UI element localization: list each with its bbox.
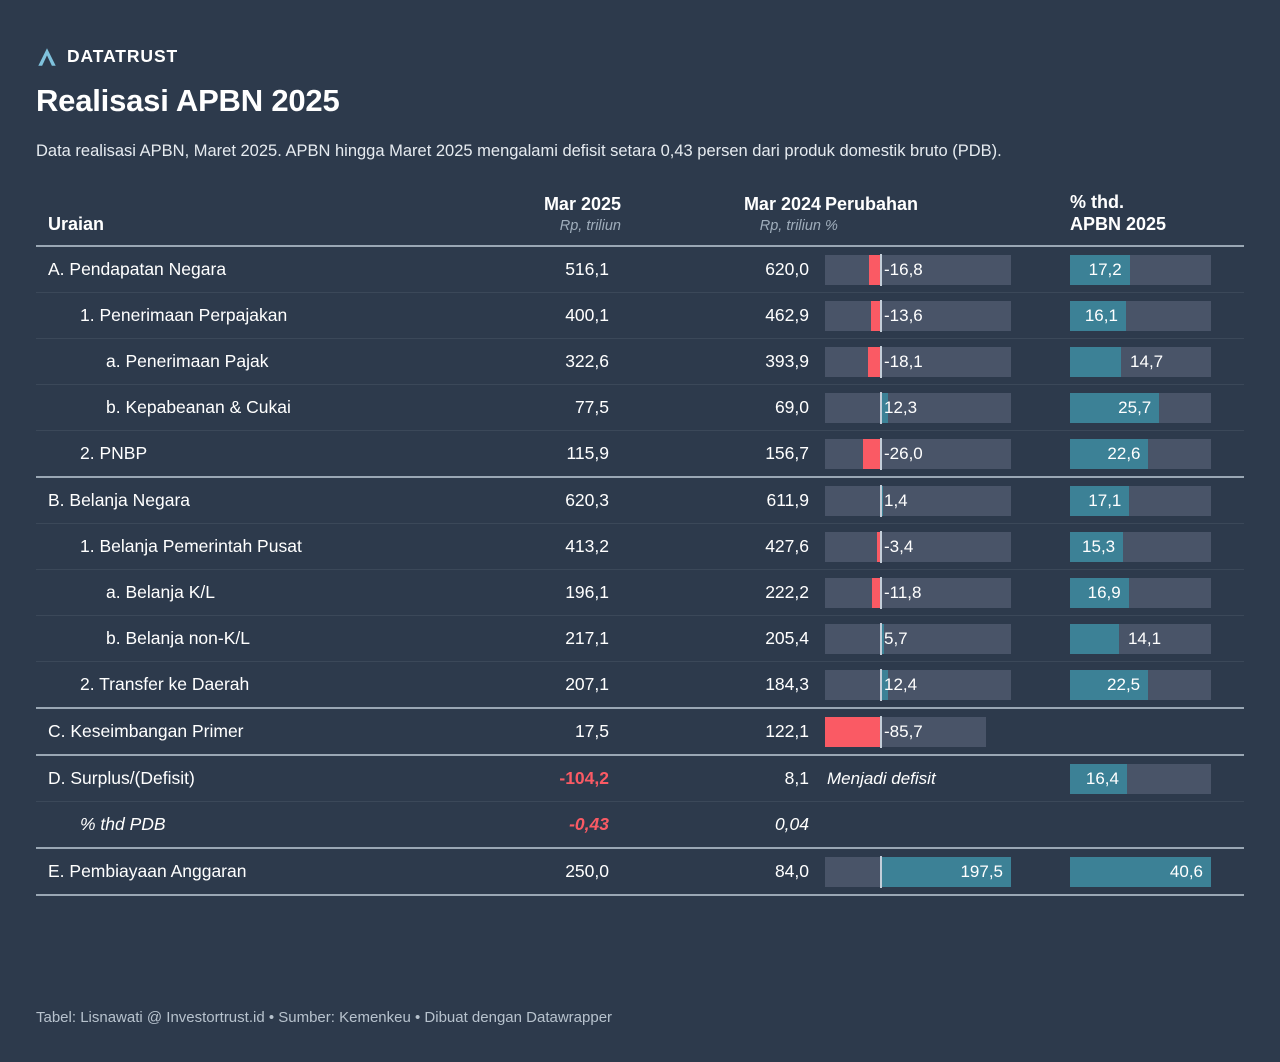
perubahan-zero-line — [880, 623, 882, 655]
cell-pct-apbn: 22,6 — [1066, 431, 1244, 478]
perubahan-note: Menjadi defisit — [825, 764, 1062, 794]
perubahan-value-label: -13,6 — [884, 301, 923, 331]
cell-perubahan: -3,4 — [821, 524, 1066, 570]
perubahan-bar-fill — [872, 578, 880, 608]
cell-mar2024: 0,04 — [621, 802, 821, 849]
row-label: 2. PNBP — [36, 443, 416, 464]
cell-mar2025: 17,5 — [416, 708, 621, 755]
row-label: 2. Transfer ke Daerah — [36, 674, 416, 695]
row-label-cell: a. Belanja K/L — [36, 570, 416, 616]
cell-mar2025: 620,3 — [416, 477, 621, 524]
perubahan-zero-line — [880, 485, 882, 517]
cell-mar2024: 222,2 — [621, 570, 821, 616]
perubahan-zero-line — [880, 856, 882, 888]
cell-mar2025: 207,1 — [416, 662, 621, 709]
cell-mar2025: 413,2 — [416, 524, 621, 570]
perubahan-bar-track — [825, 393, 1011, 423]
row-label-cell: % thd PDB — [36, 802, 416, 849]
cell-pct-apbn: 16,9 — [1066, 570, 1244, 616]
row-label: B. Belanja Negara — [36, 490, 416, 511]
pct-apbn-bar: 17,1 — [1070, 486, 1211, 516]
perubahan-bar-fill — [868, 347, 880, 377]
cell-perubahan — [821, 802, 1066, 849]
table-row: a. Penerimaan Pajak322,6393,9-18,114,7 — [36, 339, 1244, 385]
row-label-cell: a. Penerimaan Pajak — [36, 339, 416, 385]
table-row: B. Belanja Negara620,3611,91,417,1 — [36, 477, 1244, 524]
perubahan-bar-fill — [825, 717, 880, 747]
cell-mar2024: 611,9 — [621, 477, 821, 524]
perubahan-bar-fill — [869, 255, 880, 285]
cell-mar2024: 156,7 — [621, 431, 821, 478]
page-title: Realisasi APBN 2025 — [36, 84, 1244, 119]
row-label-cell: b. Kepabeanan & Cukai — [36, 385, 416, 431]
perubahan-value-label: -16,8 — [884, 255, 923, 285]
cell-mar2025: 77,5 — [416, 385, 621, 431]
cell-perubahan: -18,1 — [821, 339, 1066, 385]
row-label: 1. Penerimaan Perpajakan — [36, 305, 416, 326]
pct-apbn-bar: 16,4 — [1070, 764, 1211, 794]
column-header-pct-apbn-label1: % thd. — [1070, 192, 1244, 214]
cell-perubahan: -13,6 — [821, 293, 1066, 339]
cell-mar2025: -0,43 — [416, 802, 621, 849]
pct-apbn-bar: 15,3 — [1070, 532, 1211, 562]
row-label: C. Keseimbangan Primer — [36, 721, 416, 742]
row-label: a. Penerimaan Pajak — [36, 351, 416, 372]
row-label: D. Surplus/(Defisit) — [36, 768, 416, 789]
row-label: % thd PDB — [36, 814, 416, 835]
pct-apbn-bar: 25,7 — [1070, 393, 1211, 423]
cell-mar2025: 322,6 — [416, 339, 621, 385]
cell-pct-apbn: 17,1 — [1066, 477, 1244, 524]
perubahan-bar-fill — [863, 439, 880, 469]
table-row: 1. Belanja Pemerintah Pusat413,2427,6-3,… — [36, 524, 1244, 570]
pct-apbn-bar: 40,6 — [1070, 857, 1211, 887]
cell-pct-apbn: 40,6 — [1066, 848, 1244, 895]
perubahan-zero-line — [880, 392, 882, 424]
cell-perubahan: -85,7 — [821, 708, 1066, 755]
cell-perubahan: -16,8 — [821, 246, 1066, 293]
perubahan-zero-line — [880, 346, 882, 378]
perubahan-value-label: -11,8 — [884, 578, 922, 608]
perubahan-bar-track — [825, 486, 1011, 516]
perubahan-value-label: -26,0 — [884, 439, 923, 469]
table-head: Uraian Mar 2025 Rp, triliun Mar 2024 Rp,… — [36, 192, 1244, 246]
perubahan-zero-line — [880, 669, 882, 701]
perubahan-bar: 12,3 — [825, 393, 1011, 423]
column-header-perubahan-unit: % — [825, 217, 1066, 236]
pct-apbn-value-label: 16,1 — [1085, 301, 1118, 331]
table-row: E. Pembiayaan Anggaran250,084,0197,540,6 — [36, 848, 1244, 895]
row-label-cell: 2. Transfer ke Daerah — [36, 662, 416, 709]
row-label-cell: 2. PNBP — [36, 431, 416, 478]
column-header-uraian-label: Uraian — [48, 214, 416, 236]
cell-mar2025: -104,2 — [416, 755, 621, 802]
pct-apbn-value-label: 15,3 — [1082, 532, 1115, 562]
column-header-perubahan: Perubahan % — [821, 192, 1066, 246]
perubahan-bar: -13,6 — [825, 301, 1011, 331]
brand-name: DATATRUST — [67, 48, 178, 66]
perubahan-value-label: -18,1 — [884, 347, 923, 377]
cell-pct-apbn: 15,3 — [1066, 524, 1244, 570]
cell-pct-apbn: 16,4 — [1066, 755, 1244, 802]
row-label-cell: C. Keseimbangan Primer — [36, 708, 416, 755]
page-subtitle: Data realisasi APBN, Maret 2025. APBN hi… — [36, 139, 1186, 164]
perubahan-value-label: -85,7 — [884, 717, 923, 747]
pct-apbn-value-label: 16,9 — [1088, 578, 1121, 608]
table-row: D. Surplus/(Defisit)-104,28,1Menjadi def… — [36, 755, 1244, 802]
cell-pct-apbn — [1066, 708, 1244, 755]
table-row: A. Pendapatan Negara516,1620,0-16,817,2 — [36, 246, 1244, 293]
perubahan-bar: 12,4 — [825, 670, 1011, 700]
perubahan-value-label: -3,4 — [884, 532, 913, 562]
perubahan-bar-track — [825, 624, 1011, 654]
column-header-mar2024-label: Mar 2024 — [621, 194, 821, 216]
row-label: a. Belanja K/L — [36, 582, 416, 603]
cell-mar2024: 205,4 — [621, 616, 821, 662]
row-label: A. Pendapatan Negara — [36, 259, 416, 280]
pct-apbn-bar: 22,6 — [1070, 439, 1211, 469]
cell-pct-apbn: 14,7 — [1066, 339, 1244, 385]
table-row: 2. PNBP115,9156,7-26,022,6 — [36, 431, 1244, 478]
table-row: C. Keseimbangan Primer17,5122,1-85,7 — [36, 708, 1244, 755]
pct-apbn-bar: 22,5 — [1070, 670, 1211, 700]
apbn-table: Uraian Mar 2025 Rp, triliun Mar 2024 Rp,… — [36, 192, 1244, 896]
cell-perubahan: 1,4 — [821, 477, 1066, 524]
cell-mar2024: 462,9 — [621, 293, 821, 339]
pct-apbn-value-label: 25,7 — [1118, 393, 1151, 423]
cell-mar2025: 400,1 — [416, 293, 621, 339]
footer-credit: Tabel: Lisnawati @ Investortrust.id • Su… — [36, 1009, 612, 1026]
perubahan-zero-line — [880, 438, 882, 470]
perubahan-bar: -16,8 — [825, 255, 1011, 285]
row-label: b. Belanja non-K/L — [36, 628, 416, 649]
perubahan-bar: -26,0 — [825, 439, 1011, 469]
column-header-mar2024: Mar 2024 Rp, triliun — [621, 192, 821, 246]
row-label-cell: 1. Penerimaan Perpajakan — [36, 293, 416, 339]
perubahan-bar: 1,4 — [825, 486, 1011, 516]
cell-pct-apbn: 14,1 — [1066, 616, 1244, 662]
cell-mar2025: 217,1 — [416, 616, 621, 662]
perubahan-value-label: 12,4 — [884, 670, 917, 700]
perubahan-zero-line — [880, 300, 882, 332]
cell-pct-apbn: 16,1 — [1066, 293, 1244, 339]
perubahan-bar-track — [825, 670, 1011, 700]
perubahan-bar-track — [825, 532, 1011, 562]
cell-pct-apbn: 17,2 — [1066, 246, 1244, 293]
brand-header: DATATRUST — [36, 0, 1244, 70]
pct-apbn-bar-fill — [1070, 624, 1119, 654]
table-body: A. Pendapatan Negara516,1620,0-16,817,21… — [36, 246, 1244, 895]
perubahan-bar: -11,8 — [825, 578, 1011, 608]
pct-apbn-value-label: 40,6 — [1170, 857, 1203, 887]
row-label-cell: B. Belanja Negara — [36, 477, 416, 524]
perubahan-bar: -18,1 — [825, 347, 1011, 377]
cell-perubahan: 197,5 — [821, 848, 1066, 895]
perubahan-value-label: 5,7 — [884, 624, 908, 654]
cell-mar2025: 516,1 — [416, 246, 621, 293]
cell-perubahan: Menjadi defisit — [821, 755, 1066, 802]
table-row: b. Kepabeanan & Cukai77,569,012,325,7 — [36, 385, 1244, 431]
table-row: a. Belanja K/L196,1222,2-11,816,9 — [36, 570, 1244, 616]
pct-apbn-value-label: 17,2 — [1089, 255, 1122, 285]
pct-apbn-value-label: 14,7 — [1130, 347, 1163, 377]
cell-mar2025: 250,0 — [416, 848, 621, 895]
perubahan-value-label: 12,3 — [884, 393, 917, 423]
pct-apbn-value-label: 16,4 — [1086, 764, 1119, 794]
table-row: 2. Transfer ke Daerah207,1184,312,422,5 — [36, 662, 1244, 709]
pct-apbn-value-label: 22,5 — [1107, 670, 1140, 700]
row-label-cell: E. Pembiayaan Anggaran — [36, 848, 416, 895]
perubahan-zero-line — [880, 254, 882, 286]
cell-mar2025: 115,9 — [416, 431, 621, 478]
column-header-pct-apbn: % thd. APBN 2025 — [1066, 192, 1244, 246]
pct-apbn-bar: 16,9 — [1070, 578, 1211, 608]
row-label-cell: 1. Belanja Pemerintah Pusat — [36, 524, 416, 570]
perubahan-bar: 197,5 — [825, 857, 1011, 887]
perubahan-value-label: 197,5 — [960, 857, 1003, 887]
column-header-mar2024-unit: Rp, triliun — [621, 217, 821, 236]
infographic-page: DATATRUST Realisasi APBN 2025 Data reali… — [0, 0, 1280, 1062]
row-label-cell: A. Pendapatan Negara — [36, 246, 416, 293]
pct-apbn-value-label: 14,1 — [1128, 624, 1161, 654]
row-label: E. Pembiayaan Anggaran — [36, 861, 416, 882]
cell-pct-apbn — [1066, 802, 1244, 849]
table-row: 1. Penerimaan Perpajakan400,1462,9-13,61… — [36, 293, 1244, 339]
perubahan-zero-line — [880, 716, 882, 748]
row-label: 1. Belanja Pemerintah Pusat — [36, 536, 416, 557]
column-header-pct-apbn-label2: APBN 2025 — [1070, 214, 1244, 236]
cell-pct-apbn: 25,7 — [1066, 385, 1244, 431]
cell-mar2024: 84,0 — [621, 848, 821, 895]
cell-perubahan: 12,4 — [821, 662, 1066, 709]
row-label: b. Kepabeanan & Cukai — [36, 397, 416, 418]
perubahan-value-label: 1,4 — [884, 486, 908, 516]
table-row: % thd PDB-0,430,04 — [36, 802, 1244, 849]
cell-perubahan: 12,3 — [821, 385, 1066, 431]
table-row: b. Belanja non-K/L217,1205,45,714,1 — [36, 616, 1244, 662]
perubahan-zero-line — [880, 577, 882, 609]
table-header-row: Uraian Mar 2025 Rp, triliun Mar 2024 Rp,… — [36, 192, 1244, 246]
row-label-cell: D. Surplus/(Defisit) — [36, 755, 416, 802]
pct-apbn-bar: 14,7 — [1070, 347, 1211, 377]
cell-perubahan: -11,8 — [821, 570, 1066, 616]
cell-pct-apbn: 22,5 — [1066, 662, 1244, 709]
cell-mar2024: 184,3 — [621, 662, 821, 709]
pct-apbn-value-label: 22,6 — [1107, 439, 1140, 469]
column-header-mar2025-label: Mar 2025 — [416, 194, 621, 216]
pct-apbn-bar: 17,2 — [1070, 255, 1211, 285]
cell-mar2024: 393,9 — [621, 339, 821, 385]
cell-mar2024: 620,0 — [621, 246, 821, 293]
cell-perubahan: 5,7 — [821, 616, 1066, 662]
perubahan-bar: 5,7 — [825, 624, 1011, 654]
pct-apbn-bar: 16,1 — [1070, 301, 1211, 331]
cell-mar2024: 8,1 — [621, 755, 821, 802]
cell-mar2024: 122,1 — [621, 708, 821, 755]
cell-mar2024: 69,0 — [621, 385, 821, 431]
column-header-mar2025-unit: Rp, triliun — [416, 217, 621, 236]
cell-mar2025: 196,1 — [416, 570, 621, 616]
cell-mar2024: 427,6 — [621, 524, 821, 570]
pct-apbn-value-label: 17,1 — [1088, 486, 1121, 516]
cell-perubahan: -26,0 — [821, 431, 1066, 478]
perubahan-bar-fill — [871, 301, 880, 331]
row-label-cell: b. Belanja non-K/L — [36, 616, 416, 662]
column-header-mar2025: Mar 2025 Rp, triliun — [416, 192, 621, 246]
perubahan-bar: -3,4 — [825, 532, 1011, 562]
perubahan-bar: -85,7 — [825, 717, 1011, 747]
triangle-chevron-logo-icon — [36, 46, 58, 68]
pct-apbn-bar: 14,1 — [1070, 624, 1211, 654]
perubahan-zero-line — [880, 531, 882, 563]
pct-apbn-bar-fill — [1070, 347, 1121, 377]
column-header-uraian: Uraian — [36, 192, 416, 246]
column-header-perubahan-label: Perubahan — [825, 194, 1066, 216]
